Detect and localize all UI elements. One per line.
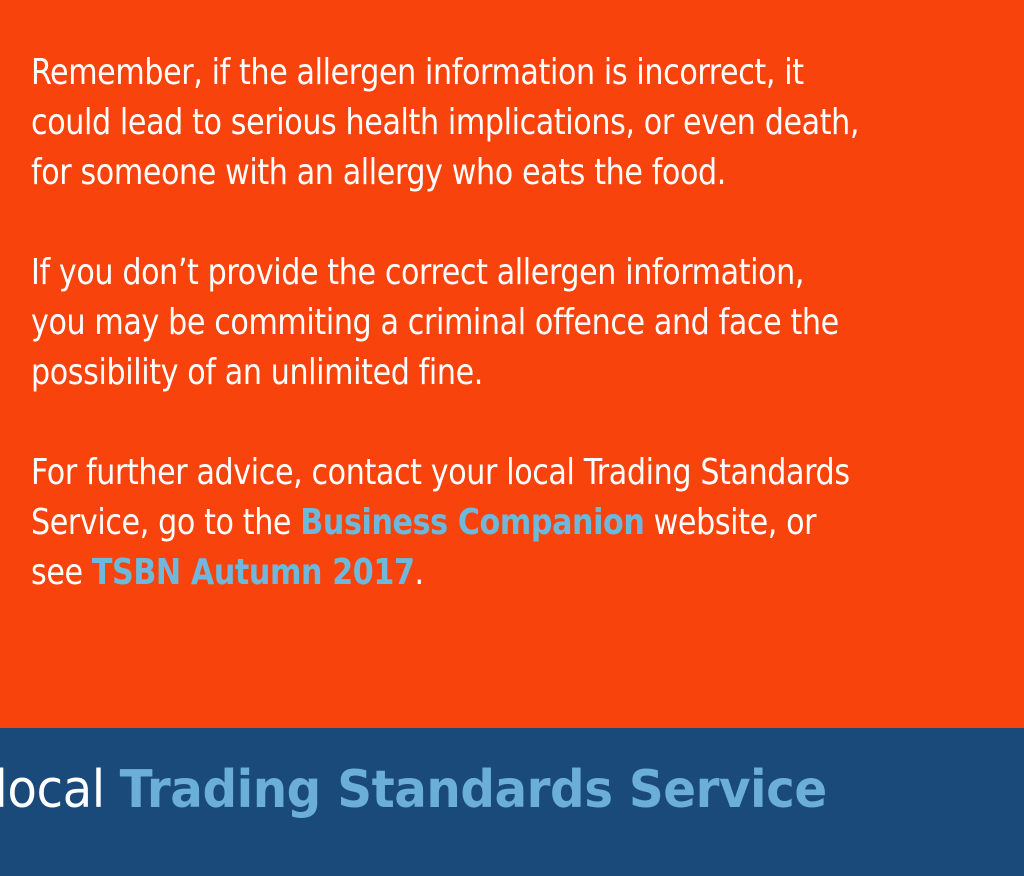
footer-headline-emphasis-text: Trading Standards Service — [120, 760, 827, 820]
advice-panel: the information. Remember, if the allerg… — [0, 0, 1024, 728]
further-advice-trailing-text: . — [415, 552, 424, 593]
paragraph-criminal-offence: If you don’t provide the correct allerge… — [31, 248, 868, 398]
paragraph-remember: Remember, if the allergen information is… — [31, 48, 868, 198]
footer-banner: contact your local Trading Standards Ser… — [0, 728, 1024, 876]
link-tsbn-autumn-2017[interactable]: TSBN Autumn 2017 — [92, 552, 415, 593]
advice-body: the information. Remember, if the allerg… — [31, 0, 868, 598]
advice-poster-page: the information. Remember, if the allerg… — [0, 0, 1024, 876]
footer-headline: contact your local Trading Standards Ser… — [0, 756, 827, 824]
link-business-companion[interactable]: Business Companion — [300, 502, 644, 543]
footer-headline-plain-text: contact your local — [0, 760, 120, 820]
paragraph-further-advice: For further advice, contact your local T… — [31, 448, 868, 598]
